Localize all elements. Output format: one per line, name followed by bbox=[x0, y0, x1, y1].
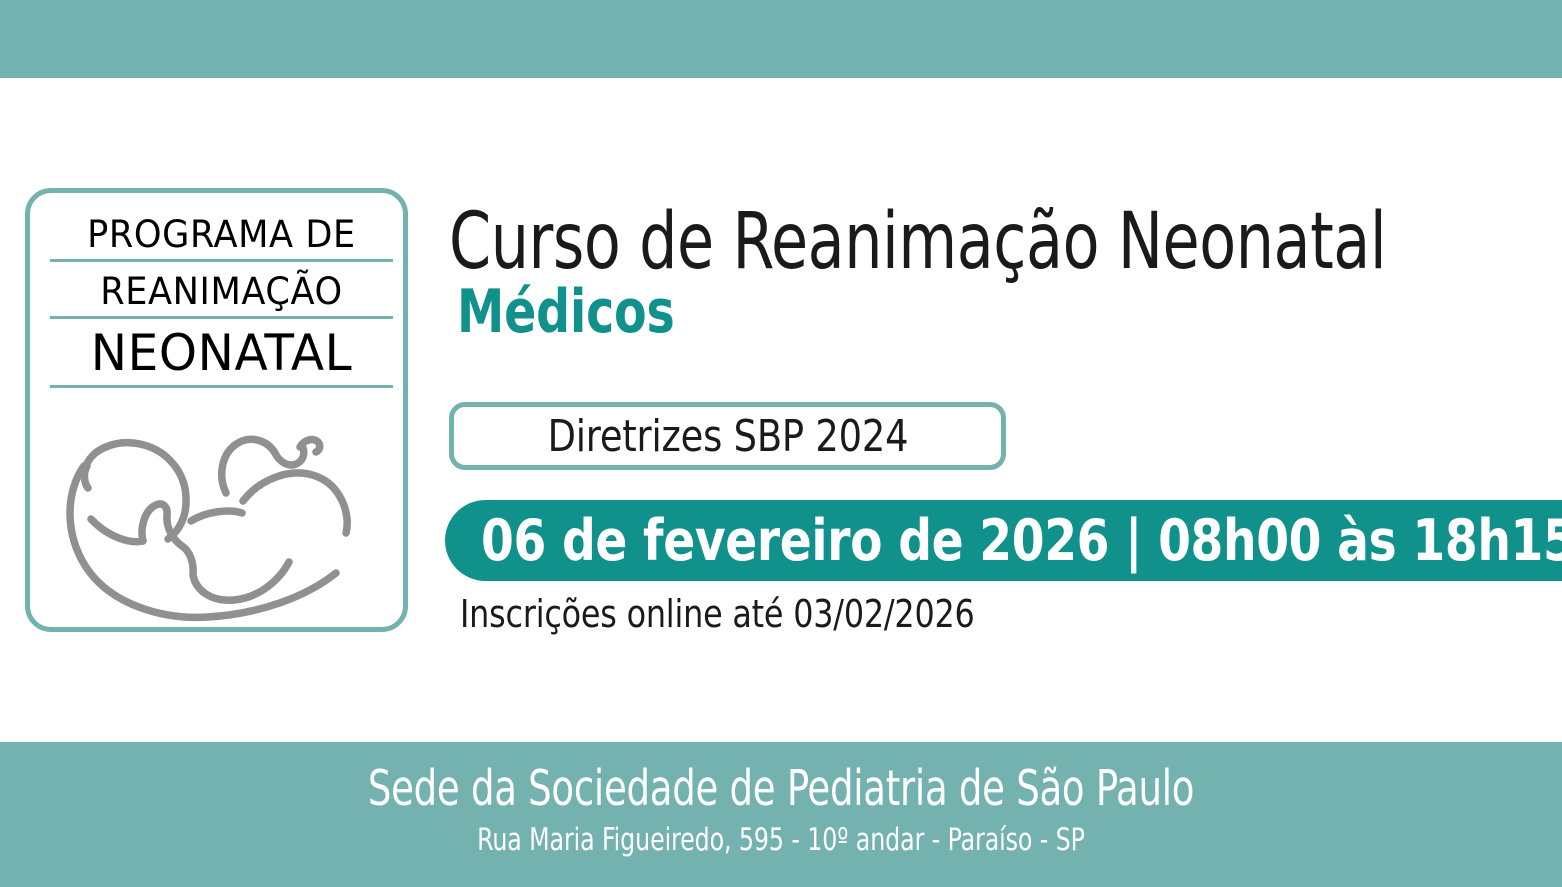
logo-rule-1 bbox=[50, 259, 393, 262]
date-time-label: 06 de fevereiro de 2026 | 08h00 às 18h15 bbox=[481, 508, 1562, 574]
logo-rule-2 bbox=[50, 316, 393, 319]
logo-rule-3 bbox=[50, 385, 393, 388]
logo-wordmark: PROGRAMA DE REANIMAÇÃO NEONATAL bbox=[50, 213, 393, 388]
guidelines-label: Diretrizes SBP 2024 bbox=[547, 411, 908, 462]
registration-deadline: Inscrições online até 03/02/2026 bbox=[460, 592, 975, 636]
page-title: Curso de Reanimação Neonatal bbox=[449, 203, 1386, 283]
audience-subtitle: Médicos bbox=[457, 282, 675, 342]
event-banner: PROGRAMA DE REANIMAÇÃO NEONATAL bbox=[0, 0, 1562, 887]
venue-name: Sede da Sociedade de Pediatria de São Pa… bbox=[125, 760, 1437, 817]
logo-line-programa-de: PROGRAMA DE bbox=[59, 213, 385, 256]
logo-line-neonatal: NEONATAL bbox=[55, 324, 388, 382]
venue-address: Rua Maria Figueiredo, 595 - 10º andar - … bbox=[117, 822, 1445, 858]
guidelines-badge: Diretrizes SBP 2024 bbox=[449, 402, 1006, 470]
venue-footer: Sede da Sociedade de Pediatria de São Pa… bbox=[0, 742, 1562, 887]
newborn-baby-line-art-icon bbox=[44, 421, 396, 626]
date-time-banner: 06 de fevereiro de 2026 | 08h00 às 18h15 bbox=[445, 500, 1562, 581]
program-logo: PROGRAMA DE REANIMAÇÃO NEONATAL bbox=[25, 188, 408, 632]
logo-line-reanimacao: REANIMAÇÃO bbox=[59, 270, 385, 313]
top-accent-bar bbox=[0, 0, 1562, 78]
